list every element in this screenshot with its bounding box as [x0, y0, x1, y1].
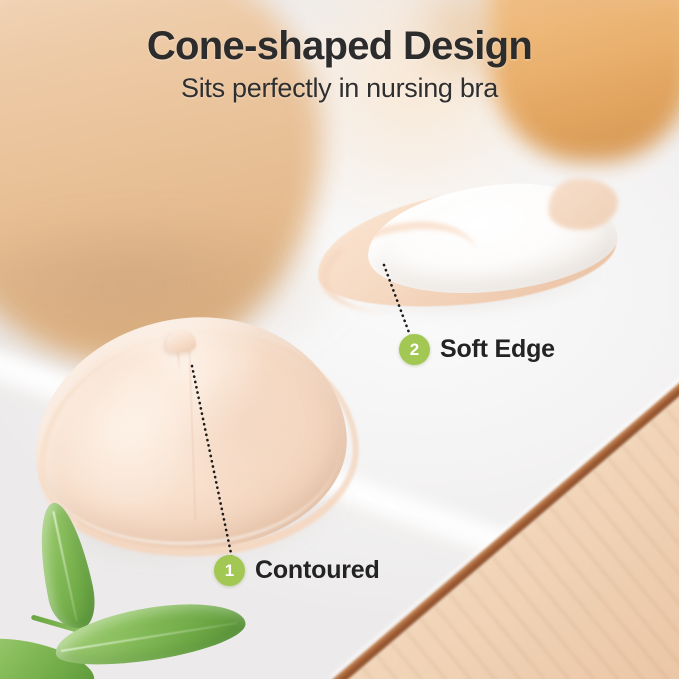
leader-line-soft-edge — [370, 262, 430, 342]
infographic-canvas: Cone-shaped Design Sits perfectly in nur… — [0, 0, 679, 679]
callout-label-soft-edge: Soft Edge — [440, 335, 555, 364]
callout-contoured: 1 Contoured — [214, 555, 380, 586]
callout-label-contoured: Contoured — [255, 556, 380, 585]
callout-badge-1: 1 — [214, 555, 245, 586]
leader-line-contoured — [180, 362, 250, 562]
callout-soft-edge: 2 Soft Edge — [399, 334, 555, 365]
callout-badge-2: 2 — [399, 334, 430, 365]
